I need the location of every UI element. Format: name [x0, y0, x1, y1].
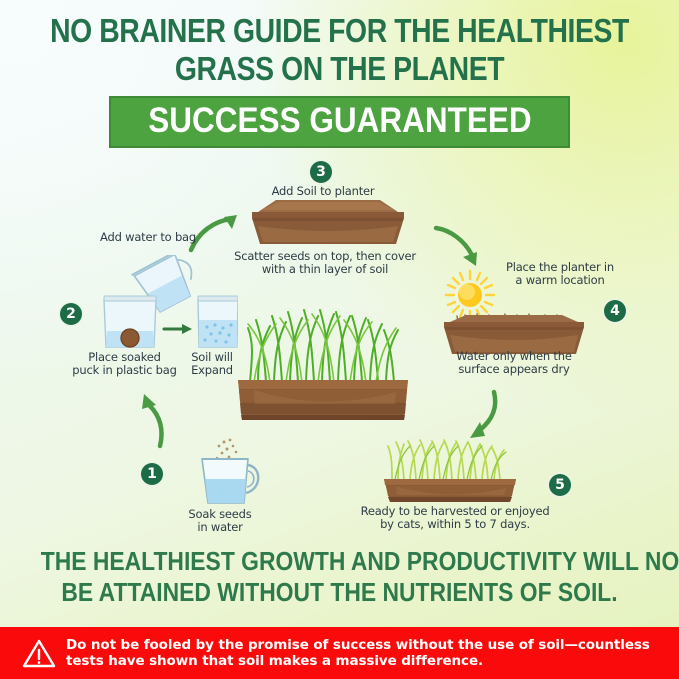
soil-filled-planter-icon — [240, 196, 415, 251]
arrow-step1-to-step2 — [128, 388, 184, 450]
step-4-badge: 4 — [604, 300, 626, 322]
step-3-badge: 3 — [310, 161, 332, 183]
step-5-caption: Ready to be harvested or enjoyed by cats… — [355, 505, 555, 531]
warning-bar: Do not be fooled by the promise of succe… — [0, 627, 679, 679]
step-2-caption-left: Place soaked puck in plastic bag — [72, 351, 177, 377]
bottom-statement: THE HEALTHIEST GROWTH AND PRODUCTIVITY W… — [41, 546, 639, 608]
success-banner-label: SUCCESS GUARANTEED — [148, 101, 531, 141]
step-2-top-caption: Add water to bag — [58, 231, 238, 244]
success-banner-wrap: SUCCESS GUARANTEED — [0, 96, 679, 148]
headline: NO BRAINER GUIDE FOR THE HEALTHIEST GRAS… — [48, 12, 632, 88]
warning-text: Do not be fooled by the promise of succe… — [66, 637, 650, 669]
infographic-canvas: NO BRAINER GUIDE FOR THE HEALTHIEST GRAS… — [0, 0, 679, 679]
step-1-caption: Soak seeds in water — [160, 508, 280, 534]
step-2-badge: 2 — [60, 303, 82, 325]
warning-triangle-icon — [22, 638, 56, 669]
step-5-badge: 5 — [549, 474, 571, 496]
hero-grass-planter — [228, 294, 418, 422]
step-4-top-caption: Place the planter in a warm location — [480, 261, 640, 287]
grown-grass-planter-icon — [378, 436, 523, 504]
step-1-badge: 1 — [141, 463, 163, 485]
watering-pitcher-and-bags-icon — [88, 255, 238, 350]
bottom-statement-line-1: THE HEALTHIEST GROWTH AND PRODUCTIVITY W… — [41, 546, 639, 577]
success-banner: SUCCESS GUARANTEED — [109, 96, 571, 148]
step-4-number: 4 — [610, 303, 620, 319]
headline-line-2: GRASS ON THE PLANET — [48, 50, 632, 88]
step-3-number: 3 — [316, 164, 326, 180]
bottom-statement-line-2: BE ATTAINED WITHOUT THE NUTRIENTS OF SOI… — [41, 577, 639, 608]
step-3-caption: Scatter seeds on top, then cover with a … — [215, 250, 435, 276]
step-1-number: 1 — [147, 466, 157, 482]
step-2-number: 2 — [66, 306, 76, 322]
step-4-caption: Water only when the surface appears dry — [434, 350, 594, 376]
step-5-number: 5 — [555, 477, 565, 493]
measuring-cup-with-seeds-icon — [182, 437, 264, 509]
headline-line-1: NO BRAINER GUIDE FOR THE HEALTHIEST — [48, 12, 632, 50]
